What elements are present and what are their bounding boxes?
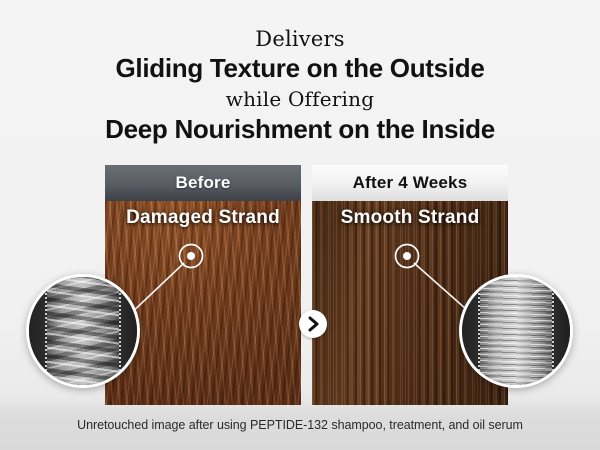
panel-before-header: Before <box>105 165 301 201</box>
headline-line-gliding-texture: Gliding Texture on the Outside <box>0 52 600 85</box>
headline-line-delivers: Delivers <box>0 26 600 52</box>
hair-care-comparison-ad: Delivers Gliding Texture on the Outside … <box>0 0 600 450</box>
headline-line-while-offering: while Offering <box>0 85 600 113</box>
magnifier-smooth-cuticle <box>459 274 573 388</box>
panel-before-subtitle: Damaged Strand <box>105 207 301 229</box>
magnifier-damaged-cuticle <box>26 274 140 388</box>
chevron-right-icon[interactable] <box>299 310 327 338</box>
headline-line-deep-nourishment: Deep Nourishment on the Inside <box>0 113 600 146</box>
disclaimer-caption: Unretouched image after using PEPTIDE-13… <box>0 418 600 432</box>
before-after-panels: Before Damaged Strand After 4 Weeks Smoo… <box>105 165 508 405</box>
panel-after-header: After 4 Weeks <box>312 165 508 201</box>
panel-after-subtitle: Smooth Strand <box>312 207 508 229</box>
headline-block: Delivers Gliding Texture on the Outside … <box>0 26 600 146</box>
